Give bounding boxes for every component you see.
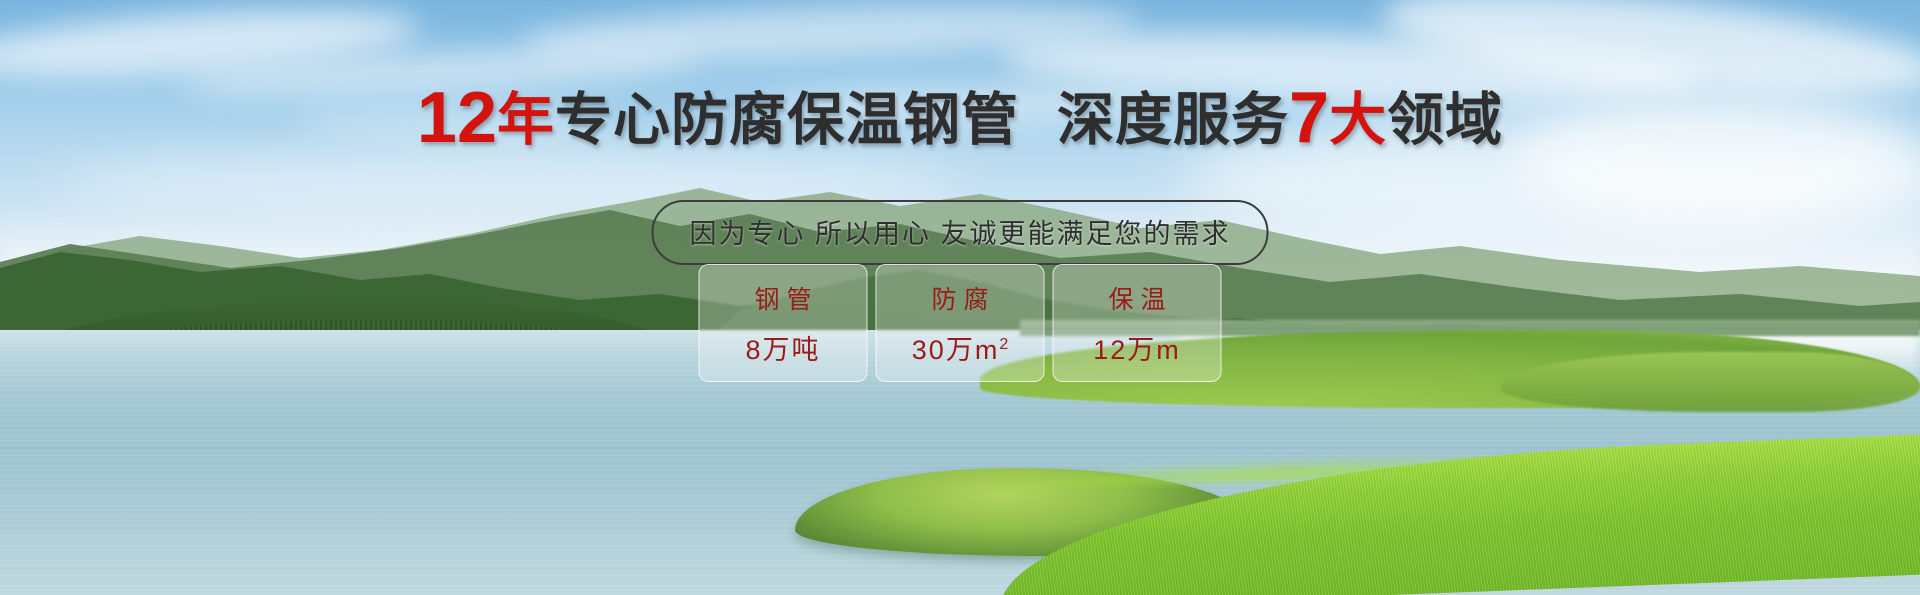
stat-card-label: 防腐: [924, 280, 995, 316]
stat-card-insulation[interactable]: 保温 12万m: [1053, 264, 1222, 382]
headline-years-unit: 年: [497, 88, 555, 152]
stat-card-value: 12万m: [1093, 328, 1181, 367]
banner-headline: 12年专心防腐保温钢管深度服务7大领域: [0, 82, 1920, 154]
stat-card-value-superscript: 2: [999, 336, 1008, 353]
headline-fields-number: 7: [1289, 78, 1329, 158]
banner-subtitle-pill: 因为专心 所以用心 友诚更能满足您的需求: [651, 200, 1268, 265]
stat-card-label: 钢管: [747, 280, 818, 316]
headline-years-number: 12: [417, 78, 497, 158]
headline-fields-unit: 大: [1329, 88, 1387, 152]
stat-card-label: 保温: [1101, 280, 1172, 316]
stat-card-value: 8万吨: [745, 328, 820, 367]
headline-fields-text: 领域: [1387, 88, 1503, 152]
stat-card-value-text: 12万m: [1093, 335, 1181, 365]
headline-service-text: 深度服务: [1057, 88, 1289, 152]
headline-main-text: 专心防腐保温钢管: [555, 88, 1019, 152]
stat-card-steel-pipe[interactable]: 钢管 8万吨: [699, 264, 868, 382]
stat-card-value-text: 30万m: [912, 335, 1000, 365]
stat-card-anticorrosion[interactable]: 防腐 30万m2: [876, 264, 1045, 382]
stat-card-group: 钢管 8万吨 防腐 30万m2 保温 12万m: [699, 264, 1222, 382]
hero-banner: 12年专心防腐保温钢管深度服务7大领域 因为专心 所以用心 友诚更能满足您的需求…: [0, 0, 1920, 595]
stat-card-value-text: 8万吨: [745, 335, 820, 365]
stat-card-value: 30万m2: [912, 328, 1008, 367]
